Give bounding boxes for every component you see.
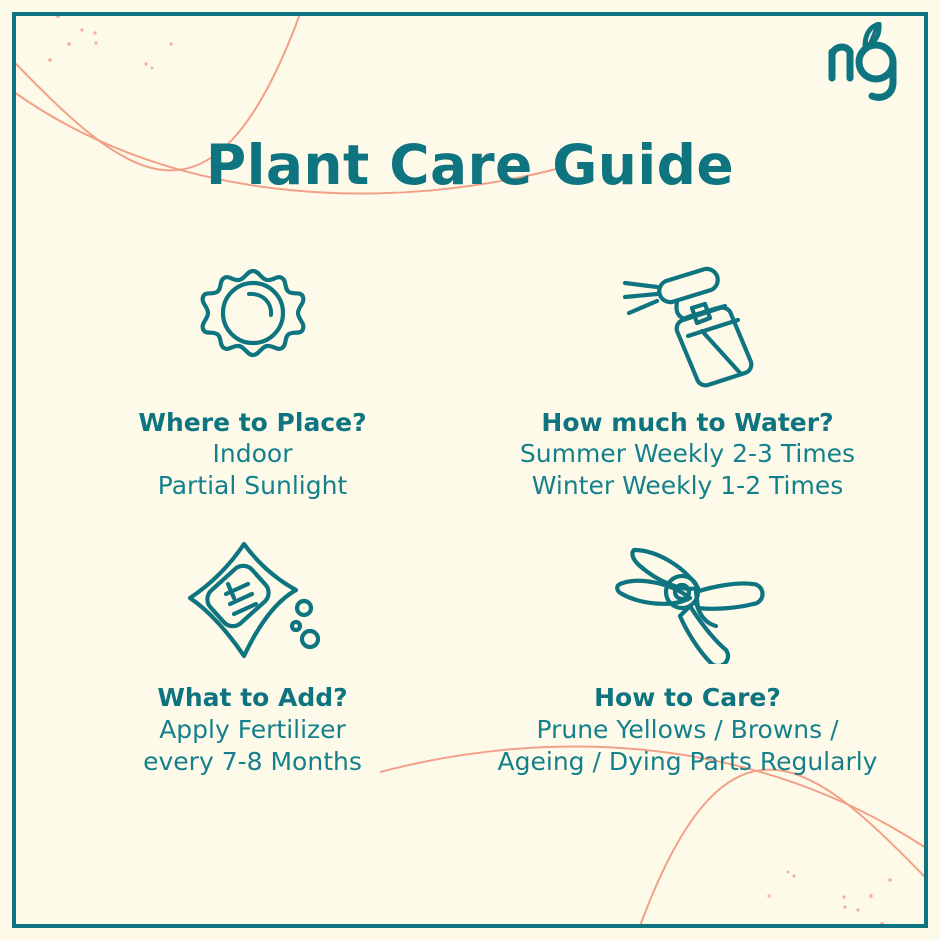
fertilizer-bag-icon-wrap — [178, 530, 328, 670]
page-title: Plant Care Guide — [0, 133, 940, 197]
card-line: Ageing / Dying Parts Regularly — [498, 746, 878, 778]
spray-bottle-icon — [613, 261, 763, 389]
pruning-shears-icon — [610, 536, 766, 664]
care-cards-grid: Where to Place? Indoor Partial Sunlight — [40, 255, 900, 778]
spray-bottle-icon-wrap — [613, 255, 763, 395]
logo-text: ng — [0, 0, 1, 1]
card-line: Summer Weekly 2-3 Times — [520, 438, 855, 470]
ng-leaf-logo — [824, 22, 902, 104]
card-line: every 7-8 Months — [143, 746, 362, 778]
plant-care-guide-poster: ng Plant Care Guide Where to Place? Indo… — [0, 0, 940, 940]
card-title: How to Care? — [594, 682, 781, 713]
card-title: How much to Water? — [541, 407, 833, 438]
card-line: Winter Weekly 1-2 Times — [532, 470, 844, 502]
card-title: What to Add? — [157, 682, 347, 713]
pruning-shears-icon-wrap — [610, 530, 766, 670]
card-how-to-care: How to Care? Prune Yellows / Browns / Ag… — [475, 530, 900, 777]
fertilizer-bag-icon — [178, 536, 328, 664]
card-line: Partial Sunlight — [158, 470, 347, 502]
sun-icon-wrap — [191, 255, 315, 395]
card-where-to-place: Where to Place? Indoor Partial Sunlight — [40, 255, 465, 502]
sun-icon — [191, 263, 315, 387]
card-how-much-to-water: How much to Water? Summer Weekly 2-3 Tim… — [475, 255, 900, 502]
card-title: Where to Place? — [138, 407, 366, 438]
card-what-to-add: What to Add? Apply Fertilizer every 7-8 … — [40, 530, 465, 777]
card-line: Apply Fertilizer — [159, 714, 346, 746]
card-line: Prune Yellows / Browns / — [536, 714, 838, 746]
card-line: Indoor — [213, 438, 293, 470]
